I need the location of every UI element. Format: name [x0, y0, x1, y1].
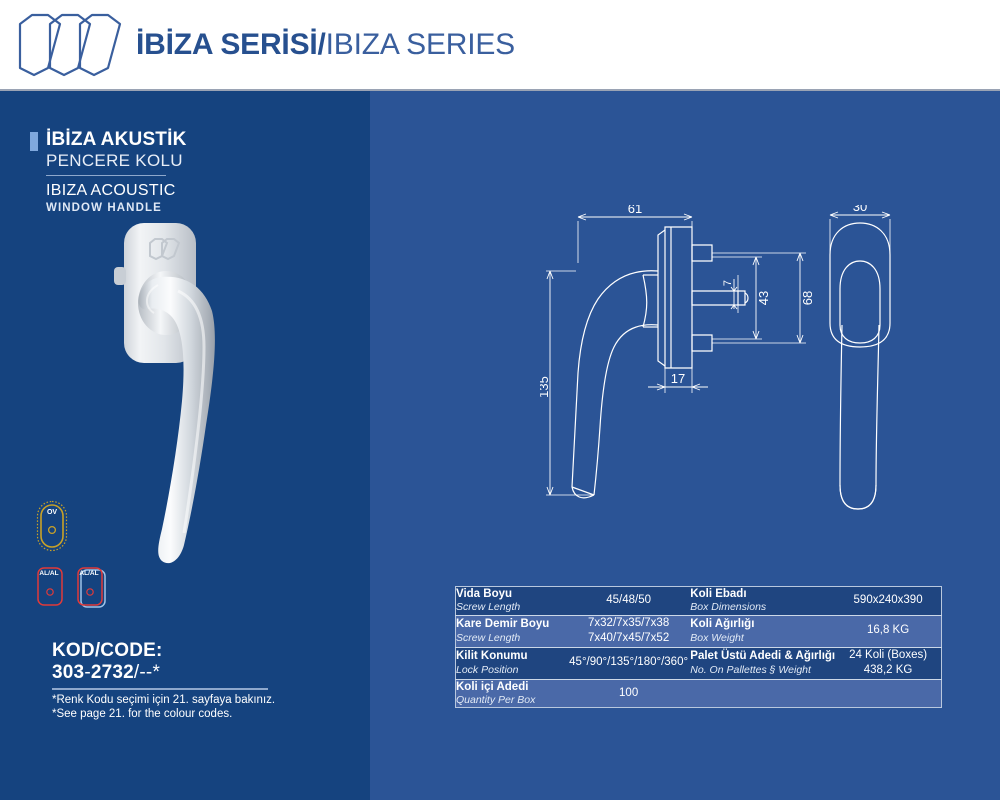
table-row: Kilit Konumu Lock Position 45°/90°/135°/… — [456, 647, 942, 679]
sidebar-heading-row: İBİZA AKUSTİK — [30, 130, 187, 151]
spec-label-tr: Kilit Konumu — [456, 649, 567, 663]
spec-label-koli-ebadi: Koli Ebadı Box Dimensions — [690, 587, 835, 616]
spec-label2-tr: Palet Üstü Adedi & Ağırlığı — [690, 649, 835, 663]
spec-value-vida-boyu: 45/48/50 — [567, 587, 690, 616]
spec-label-tr: Vida Boyu — [456, 587, 567, 601]
spec-value-koli-agirligi: 16,8 KG — [835, 615, 941, 647]
title-tr: İBİZA SERİSİ — [136, 28, 318, 61]
spec-value-line-2: 7x40/7x45/7x52 — [567, 631, 690, 647]
spec-value-palet-ustu: 24 Koli (Boxes) 438,2 KG — [835, 647, 941, 679]
code-label: KOD/CODE: — [52, 640, 163, 662]
sidebar-title-en: IBIZA ACOUSTIC — [46, 182, 176, 200]
spec-label-en: Screw Length — [456, 601, 567, 614]
sidebar-divider — [46, 175, 166, 176]
spec-value-koli-ici-adedi: 100 — [567, 679, 690, 708]
spec-label2-tr: Koli Ebadı — [690, 587, 835, 601]
code-number: 2732 — [91, 662, 134, 683]
code-divider — [52, 688, 268, 690]
colour-code-badges: OV AL/AL AL/AL — [36, 500, 156, 610]
handle-front-view: 30 — [800, 205, 950, 535]
note-en: *See page 21. for the colour codes. — [52, 708, 232, 720]
spec-value-line-1: 7x32/7x35/7x38 — [567, 616, 690, 632]
dim-label-43: 43 — [756, 291, 771, 305]
w-logo — [14, 12, 132, 78]
dim-label-30: 30 — [853, 205, 867, 214]
badge-al-al-1[interactable]: AL/AL — [36, 566, 66, 608]
spec-value-empty — [835, 679, 941, 708]
spec-value2-line-1: 24 Koli (Boxes) — [835, 648, 941, 664]
table-row: Vida Boyu Screw Length 45/48/50 Koli Eba… — [456, 587, 942, 616]
spec-label-koli-ici-adedi: Koli içi Adedi Quantity Per Box — [456, 679, 567, 708]
badge-al-al-2[interactable]: AL/AL — [76, 566, 106, 608]
spec-label-en: Quantity Per Box — [456, 694, 567, 707]
spec-label-tr: Kare Demir Boyu — [456, 617, 567, 631]
code-value: 303-2732/--* — [52, 662, 160, 684]
code-prefix: 303 — [52, 662, 84, 683]
sidebar-subtitle-en: WINDOW HANDLE — [46, 202, 162, 214]
spec-label2-en: No. On Pallettes § Weight — [690, 664, 835, 677]
sidebar-title-tr: İBİZA AKUSTİK — [46, 130, 187, 150]
catalog-page: İBİZA SERİSİ/IBIZA SERIES İBİZA AKUSTİK … — [0, 0, 1000, 800]
spec-label-kilit-konumu: Kilit Konumu Lock Position — [456, 647, 567, 679]
page-title: İBİZA SERİSİ/IBIZA SERIES — [136, 30, 515, 60]
specification-table: Vida Boyu Screw Length 45/48/50 Koli Eba… — [455, 586, 942, 708]
spec-label-tr: Koli içi Adedi — [456, 680, 567, 694]
table-row: Kare Demir Boyu Screw Length 7x32/7x35/7… — [456, 615, 942, 647]
spec-value-kare-demir-boyu: 7x32/7x35/7x38 7x40/7x45/7x52 — [567, 615, 690, 647]
dim-label-17: 17 — [671, 371, 685, 386]
code-suffix: /--* — [134, 662, 160, 683]
title-separator: / — [318, 28, 326, 61]
dim-label-7: 7 — [722, 280, 734, 286]
spec-label2-en: Box Dimensions — [690, 601, 835, 614]
badge-ov[interactable]: OV — [36, 500, 68, 552]
spec-value2-line-2: 438,2 KG — [835, 663, 941, 679]
title-en: IBIZA SERIES — [326, 28, 515, 61]
dim-label-61: 61 — [628, 205, 642, 216]
spec-label-kare-demir-boyu: Kare Demir Boyu Screw Length — [456, 615, 567, 647]
spec-label-empty — [690, 679, 835, 708]
spec-label-palet-ustu: Palet Üstü Adedi & Ağırlığı No. On Palle… — [690, 647, 835, 679]
note-tr: *Renk Kodu seçimi için 21. sayfaya bakın… — [52, 694, 275, 706]
spec-value-kilit-konumu: 45°/90°/135°/180°/360° — [567, 647, 690, 679]
spec-label2-tr: Koli Ağırlığı — [690, 617, 835, 631]
sidebar-subtitle-tr: PENCERE KOLU — [46, 151, 183, 171]
spec-label2-en: Box Weight — [690, 632, 835, 645]
accent-bar — [30, 132, 38, 151]
spec-label-vida-boyu: Vida Boyu Screw Length — [456, 587, 567, 616]
dim-label-135: 135 — [540, 376, 551, 398]
table-row: Koli içi Adedi Quantity Per Box 100 — [456, 679, 942, 708]
page-header: İBİZA SERİSİ/IBIZA SERIES — [0, 0, 1000, 89]
spec-label-koli-agirligi: Koli Ağırlığı Box Weight — [690, 615, 835, 647]
spec-value-koli-ebadi: 590x240x390 — [835, 587, 941, 616]
spec-label-en: Lock Position — [456, 664, 567, 677]
spec-label-en: Screw Length — [456, 632, 567, 645]
